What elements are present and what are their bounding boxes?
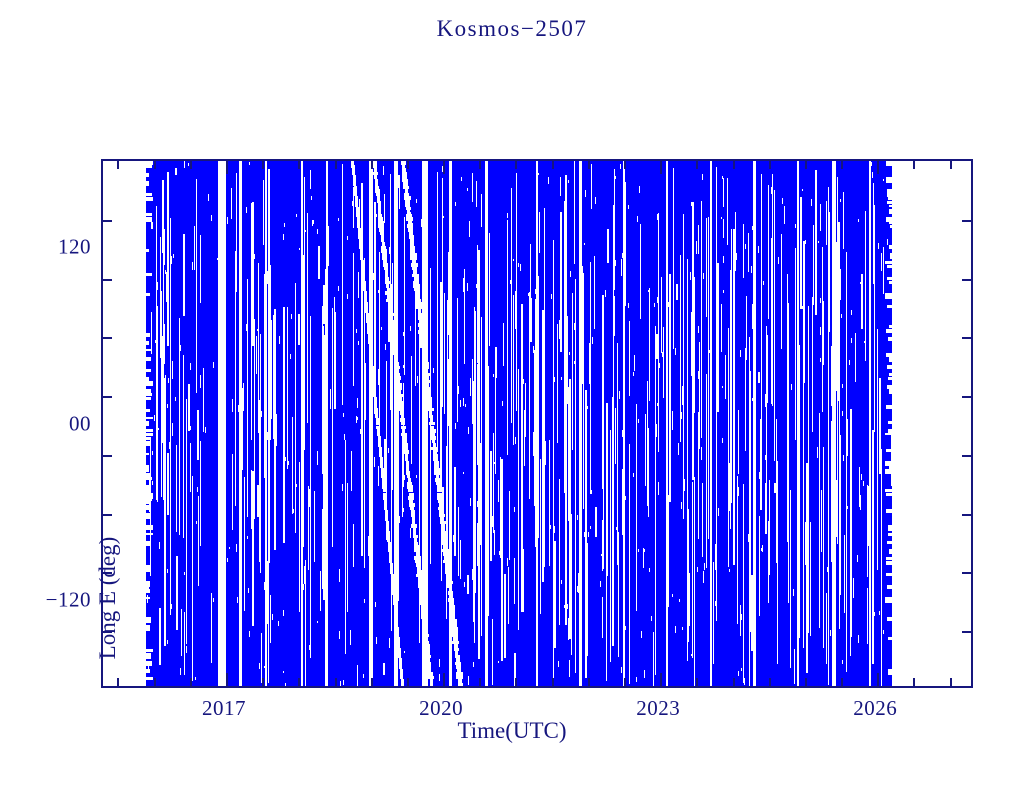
x-axis-title: Time(UTC) [0,718,1024,744]
sampling-gap-streak [808,306,809,633]
sampling-gap-fleck [628,205,629,209]
sampling-gap-fleck [838,337,839,342]
sampling-gap-streak [606,403,608,576]
sampling-gap-streak [492,619,493,685]
sampling-gap-streak [151,312,152,354]
sampling-gap-fleck [361,197,362,202]
data-edge-notch [886,509,892,513]
sampling-gap-streak [798,345,800,638]
sampling-gap-fleck [360,429,361,434]
sampling-gap-streak [634,355,635,371]
sampling-gap-streak [847,419,848,455]
x-minor-tick-top [913,161,915,169]
sampling-gap-streak [658,213,659,452]
x-minor-tick [552,678,554,686]
sampling-gap-fleck [370,460,371,465]
sampling-gap-fleck [759,472,760,479]
sampling-gap-fleck [788,303,789,306]
sampling-gap-fleck [721,217,722,220]
sampling-gap-streak [694,477,695,686]
sampling-gap-streak [326,575,327,596]
sampling-gap-fleck [279,336,280,344]
sampling-gap-fleck [600,581,601,587]
sampling-gap-streak [365,363,366,420]
data-edge-notch [146,429,153,432]
sampling-gap-fleck [416,475,417,478]
sampling-gap-streak [211,593,212,663]
sampling-gap-fleck [356,416,357,424]
sampling-gap-fleck [370,425,371,429]
sampling-gap-fleck [574,323,575,330]
sampling-gap-fleck [486,651,487,656]
sampling-gap-fleck [587,406,588,408]
x-minor-tick-top [335,161,337,169]
sampling-gap-streak [629,321,630,396]
sampling-gap-streak [339,569,340,582]
sampling-gap-fleck [498,661,499,663]
sampling-gap-fleck [840,199,841,202]
sampling-gap-fleck [605,290,606,297]
y-minor-tick [103,279,112,281]
sampling-gap-streak [723,219,724,238]
sampling-gap-fleck [155,340,156,343]
sampling-gap-fleck [264,582,265,590]
sampling-gap-streak [310,170,311,190]
sampling-gap-fleck [473,662,474,667]
sampling-gap-fleck [227,558,228,562]
data-edge-notch [146,181,149,186]
data-edge-notch [146,381,152,386]
sampling-gap-streak [378,466,379,487]
sampling-gap-streak [881,534,882,548]
sampling-gap-fleck [842,411,843,415]
sampling-gap-streak [222,288,223,410]
sampling-gap-streak [668,495,669,607]
sampling-gap-fleck [851,338,852,343]
sampling-gap-fleck [154,415,155,421]
sampling-gap-streak [656,334,658,359]
sampling-gap-fleck [165,270,166,273]
sampling-gap-streak [259,400,260,562]
sampling-gap-fleck [460,400,461,407]
sampling-gap-fleck [249,631,250,637]
x-minor-tick [913,678,915,686]
sampling-gap-fleck [261,411,262,417]
sampling-gap-streak [559,479,560,625]
x-major-tick [660,673,662,686]
sampling-gap-fleck [342,221,343,224]
sampling-gap-fleck [468,427,469,435]
y-minor-tick-right [962,337,971,339]
sampling-gap-streak [534,350,535,507]
sampling-gap-streak [560,177,561,196]
sampling-gap-fleck [339,631,340,639]
sampling-gap-streak [468,676,469,685]
sampling-gap-streak [649,288,650,401]
sampling-gap-fleck [285,457,286,460]
sampling-gap-streak [357,398,358,408]
data-edge-notch [886,161,892,166]
sampling-gap-fleck [266,683,267,686]
sampling-gap-fleck [812,313,813,317]
sampling-gap-fleck [615,260,616,266]
sampling-gap-fleck [363,674,364,678]
sampling-gap-fleck [872,172,873,178]
sampling-gap-streak [460,540,461,579]
sampling-gap-fleck [267,432,268,439]
sampling-gap-streak [575,301,576,310]
observation-gap [239,161,241,686]
x-minor-tick-top [624,161,626,169]
sampling-gap-fleck [261,656,262,659]
sampling-gap-streak [437,172,438,412]
sampling-gap-fleck [638,549,639,552]
data-edge-notch [886,329,892,333]
sampling-gap-streak [157,306,158,502]
data-edge-notch [890,529,892,531]
sampling-gap-streak [398,395,399,600]
x-minor-tick-top [190,161,192,169]
sampling-gap-fleck [221,466,222,469]
sampling-gap-streak [706,218,707,317]
sampling-gap-fleck [682,627,683,631]
sampling-gap-streak [298,314,300,346]
sampling-gap-fleck [305,230,306,232]
sampling-gap-streak [730,315,731,529]
sampling-gap-fleck [211,215,212,220]
sampling-gap-fleck [621,667,622,673]
sampling-gap-streak [515,291,516,329]
sampling-gap-fleck [849,360,850,365]
sampling-gap-streak [299,462,300,612]
sampling-gap-streak [470,378,471,396]
sampling-gap-streak [701,447,702,460]
sampling-gap-streak [672,411,673,431]
sampling-gap-streak [172,361,173,379]
sampling-gap-fleck [476,284,477,288]
sampling-gap-fleck [325,394,326,402]
sampling-gap-fleck [208,194,209,200]
x-minor-tick-top [117,161,119,169]
x-minor-tick [624,678,626,686]
sampling-gap-streak [682,386,683,405]
sampling-gap-streak [545,441,546,465]
sampling-gap-streak [743,224,744,279]
sampling-gap-fleck [569,352,570,355]
sampling-gap-fleck [791,384,792,391]
sampling-gap-streak [252,202,254,346]
sampling-gap-streak [812,297,813,432]
data-edge-notch [886,573,892,576]
sampling-gap-fleck [698,326,699,333]
sampling-gap-fleck [567,604,568,609]
sampling-gap-fleck [430,305,431,307]
sampling-gap-streak [307,213,308,423]
sampling-gap-fleck [229,547,230,549]
sampling-gap-streak [508,567,509,623]
sampling-gap-fleck [356,329,357,333]
sampling-gap-fleck [458,386,459,393]
sampling-gap-fleck [394,247,395,255]
sampling-gap-streak [810,522,811,636]
sampling-gap-fleck [622,253,623,258]
data-edge-notch [888,585,892,589]
sampling-gap-fleck [820,298,821,303]
sampling-gap-streak [521,439,522,549]
sampling-gap-streak [477,245,478,363]
sampling-gap-streak [196,179,197,321]
sampling-gap-fleck [636,677,637,682]
sampling-gap-fleck [296,214,297,217]
sampling-gap-fleck [313,220,314,224]
x-major-tick-top [443,161,445,174]
sampling-gap-fleck [799,483,800,490]
sampling-gap-streak [702,483,703,557]
sampling-gap-streak [610,430,611,663]
sampling-gap-fleck [639,186,640,193]
sampling-gap-streak [498,480,499,502]
sampling-gap-streak [287,307,288,469]
sampling-gap-streak [817,447,818,457]
sampling-gap-fleck [205,427,206,433]
x-minor-tick [298,678,300,686]
sampling-gap-streak [689,573,690,626]
data-edge-notch [146,677,153,680]
sampling-gap-fleck [802,306,803,309]
sampling-gap-streak [621,259,622,276]
sampling-gap-streak [750,379,751,397]
sampling-gap-streak [383,166,384,175]
data-edge-notch [886,493,891,496]
sampling-gap-fleck [881,457,882,463]
y-axis-title: Long E (deg) [95,388,121,808]
sampling-gap-streak [404,217,405,375]
sampling-gap-streak [383,663,385,675]
sampling-gap-streak [861,274,863,329]
sampling-gap-fleck [529,426,530,429]
sampling-gap-fleck [752,398,753,401]
sampling-gap-fleck [502,401,503,406]
sampling-gap-streak [743,484,744,684]
sampling-gap-fleck [247,536,248,539]
sampling-gap-streak [687,408,688,540]
observation-gap [218,161,226,686]
sampling-gap-fleck [219,595,220,603]
sampling-gap-streak [190,443,191,492]
x-minor-tick-top [262,161,264,169]
sampling-gap-fleck [175,397,176,402]
sampling-gap-streak [480,443,481,545]
x-minor-tick-top [552,161,554,169]
sampling-gap-streak [292,417,293,514]
sampling-gap-fleck [453,535,454,542]
sampling-gap-streak [883,247,884,294]
sampling-gap-fleck [389,247,390,254]
data-edge-notch [146,165,151,168]
sampling-gap-fleck [197,487,198,492]
sampling-gap-fleck [741,614,742,620]
observation-gap [869,161,871,686]
sampling-gap-streak [853,578,854,597]
sampling-gap-streak [200,441,201,546]
data-edge-notch [146,625,150,631]
sampling-gap-fleck [752,611,753,619]
sampling-gap-fleck [433,368,434,373]
sampling-gap-fleck [371,238,372,241]
sampling-gap-fleck [464,582,465,587]
sampling-gap-streak [150,437,151,576]
sampling-gap-streak [327,226,329,265]
x-minor-tick-top [769,161,771,169]
sampling-gap-fleck [477,501,478,507]
sampling-gap-streak [580,224,582,363]
sampling-gap-fleck [793,589,794,596]
sampling-gap-fleck [662,352,663,357]
sampling-gap-streak [448,252,449,335]
data-edge-notch [146,649,153,652]
sampling-gap-fleck [275,450,276,454]
sampling-gap-fleck [691,654,692,656]
sampling-gap-streak [535,403,537,547]
sampling-gap-streak [865,211,866,361]
sampling-gap-streak [274,309,276,550]
sampling-gap-streak [256,336,257,374]
sampling-gap-fleck [690,272,691,280]
sampling-gap-streak [160,237,161,358]
sampling-gap-fleck [570,271,571,277]
sampling-gap-streak [170,218,171,272]
sampling-gap-streak [740,605,741,636]
sampling-gap-fleck [878,243,879,249]
sampling-gap-fleck [293,509,294,513]
sampling-gap-fleck [171,256,172,264]
sampling-gap-fleck [843,455,844,461]
sampling-gap-streak [559,320,560,339]
sampling-gap-streak [518,369,519,629]
data-edge-notch [146,397,150,400]
data-edge-notch [146,421,148,426]
sampling-gap-streak [877,329,878,569]
sampling-gap-streak [753,176,754,267]
sampling-gap-streak [525,383,526,437]
sampling-gap-fleck [158,428,159,430]
sampling-gap-fleck [340,681,341,686]
x-minor-tick-top [371,161,373,169]
data-edge-notch [888,181,892,183]
sampling-gap-streak [162,336,163,443]
sampling-gap-fleck [343,680,344,685]
data-edge-notch [888,197,892,200]
sampling-gap-streak [411,356,412,465]
sampling-gap-fleck [227,217,228,224]
sampling-gap-streak [304,177,305,388]
x-minor-tick [950,678,952,686]
sampling-gap-streak [192,476,193,681]
sampling-gap-fleck [625,626,626,630]
sampling-gap-fleck [184,161,185,168]
sampling-gap-streak [553,240,554,350]
sampling-gap-fleck [550,525,551,529]
sampling-gap-fleck [741,668,742,672]
x-minor-tick [696,678,698,686]
sampling-gap-fleck [834,215,835,222]
sampling-gap-streak [595,507,597,537]
sampling-gap-fleck [470,498,471,506]
sampling-gap-streak [675,348,676,355]
sampling-gap-streak [653,632,654,683]
sampling-gap-streak [194,226,195,270]
sampling-gap-fleck [404,475,405,480]
sampling-gap-fleck [167,569,168,573]
sampling-gap-fleck [224,570,225,576]
sampling-gap-streak [829,212,830,332]
sampling-gap-streak [683,412,684,440]
sampling-gap-fleck [251,470,252,475]
sampling-gap-streak [244,477,245,611]
y-minor-tick-right [962,631,971,633]
sampling-gap-streak [203,368,204,433]
sampling-gap-fleck [744,678,745,685]
x-major-tick [877,673,879,686]
sampling-gap-streak [678,443,679,456]
sampling-gap-streak [572,293,573,450]
sampling-gap-fleck [371,411,372,415]
sampling-gap-streak [318,246,320,279]
sampling-gap-streak [784,206,785,224]
sampling-gap-fleck [628,303,629,307]
sampling-gap-fleck [275,335,276,340]
sampling-gap-fleck [553,501,554,508]
sampling-gap-fleck [802,189,803,191]
plot-canvas: Kosmos−2507 Long E (deg) 201720202023202… [0,0,1024,768]
sampling-gap-fleck [364,599,365,603]
sampling-gap-streak [602,295,604,489]
sampling-gap-fleck [872,557,873,563]
sampling-gap-fleck [284,223,285,227]
sampling-gap-streak [507,220,508,455]
sampling-gap-streak [557,324,558,443]
data-edge-notch [886,557,892,560]
sampling-gap-fleck [842,660,843,664]
sampling-gap-fleck [832,596,833,602]
x-minor-tick [769,678,771,686]
sampling-gap-fleck [278,621,279,626]
sampling-gap-fleck [439,659,440,666]
sampling-gap-streak [236,173,237,292]
sampling-gap-fleck [584,243,585,245]
sampling-gap-fleck [299,248,300,250]
sampling-gap-streak [594,256,595,330]
sampling-gap-fleck [165,380,166,385]
sampling-gap-fleck [679,599,680,603]
sampling-gap-streak [813,225,814,305]
sampling-gap-fleck [376,637,377,644]
sampling-gap-fleck [740,350,741,356]
sampling-gap-streak [301,163,302,308]
sampling-gap-streak [159,608,161,665]
sampling-gap-streak [476,181,477,207]
sampling-gap-fleck [691,202,692,206]
sampling-gap-fleck [833,443,834,449]
sampling-gap-fleck [399,516,400,523]
sampling-gap-streak [467,575,469,594]
data-edge-notch [146,333,149,337]
sampling-gap-fleck [543,433,544,440]
sampling-gap-fleck [256,356,257,358]
sampling-gap-fleck [704,563,705,571]
x-minor-tick-top [950,161,952,169]
data-edge-notch [146,669,150,673]
